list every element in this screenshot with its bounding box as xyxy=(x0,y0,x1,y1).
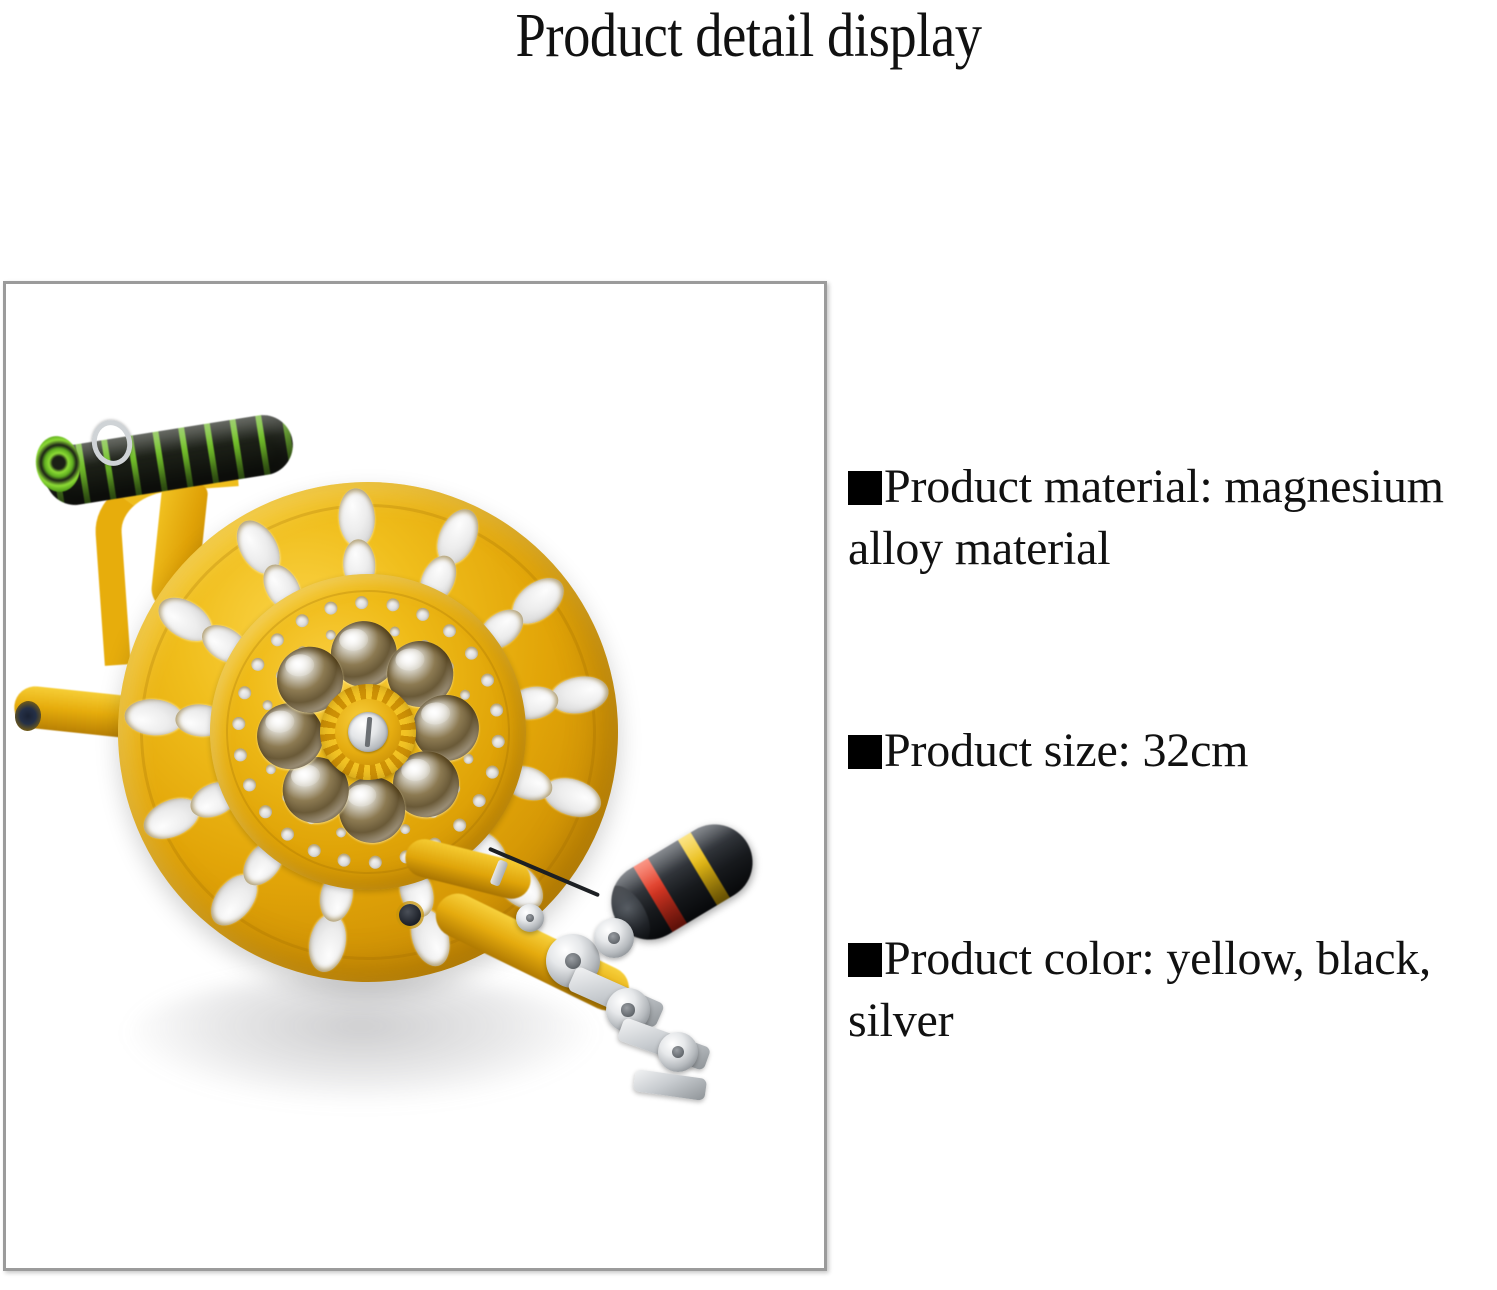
line-roller-4 xyxy=(658,1032,698,1072)
spec-item-material-text: Product material: magnesium alloy materi… xyxy=(848,460,1444,575)
page-title: Product detail display xyxy=(90,2,1407,70)
bullet-square-icon xyxy=(848,943,882,977)
bullet-square-icon xyxy=(848,471,882,505)
spec-item-size-text: Product size: 32cm xyxy=(884,724,1248,777)
product-photo-panel xyxy=(3,281,827,1271)
spec-item-color-text: Product color: yellow, black, silver xyxy=(848,932,1431,1047)
spec-item-color: Product color: yellow, black, silver xyxy=(848,928,1478,1052)
product-photo-fishing-reel xyxy=(6,284,824,1268)
spec-item-material: Product material: magnesium alloy materi… xyxy=(848,456,1478,580)
reel-drop-shadow xyxy=(126,974,596,1104)
roller-plate-3 xyxy=(633,1069,707,1101)
reel-arm-pivot-screw xyxy=(399,904,421,926)
line-roller-2 xyxy=(594,918,634,958)
spec-item-size: Product size: 32cm xyxy=(848,720,1478,782)
bullet-square-icon xyxy=(848,735,882,769)
line-roller-5 xyxy=(516,904,544,932)
